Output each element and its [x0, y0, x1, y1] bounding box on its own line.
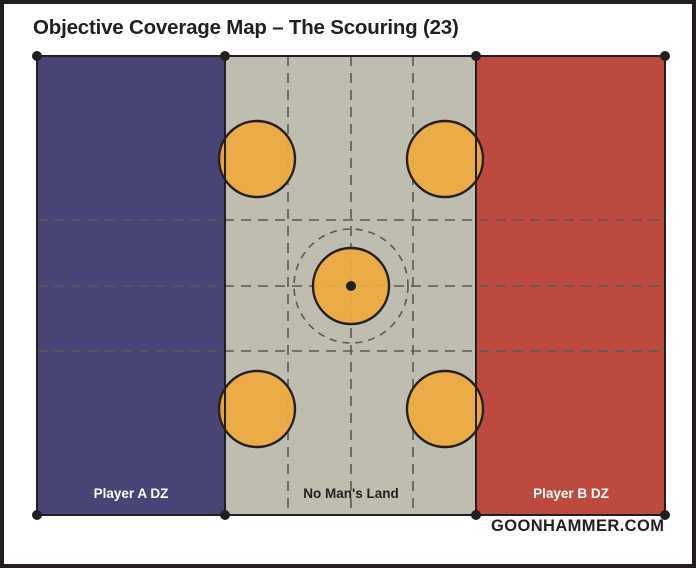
corner-marker: [220, 51, 230, 61]
corner-marker: [660, 51, 670, 61]
objective-bottom-right: [407, 371, 483, 447]
corner-marker: [32, 510, 42, 520]
map-figure: Objective Coverage Map – The Scouring (2…: [0, 0, 696, 568]
corner-marker: [471, 510, 481, 520]
objective-bottom-left: [219, 371, 295, 447]
objective-top-left: [219, 121, 295, 197]
zone-label-player-b-dz: Player B DZ: [533, 486, 609, 501]
site-credit: GOONHAMMER.COM: [491, 517, 664, 536]
objective-coverage-map: Player A DZ No Man's Land Player B DZ: [4, 4, 696, 568]
corner-marker: [220, 510, 230, 520]
zone-label-player-a-dz: Player A DZ: [94, 486, 169, 501]
zone-label-no-mans-land: No Man's Land: [303, 486, 398, 501]
objective-top-right: [407, 121, 483, 197]
map-center-dot: [346, 281, 356, 291]
corner-marker: [32, 51, 42, 61]
corner-marker: [471, 51, 481, 61]
